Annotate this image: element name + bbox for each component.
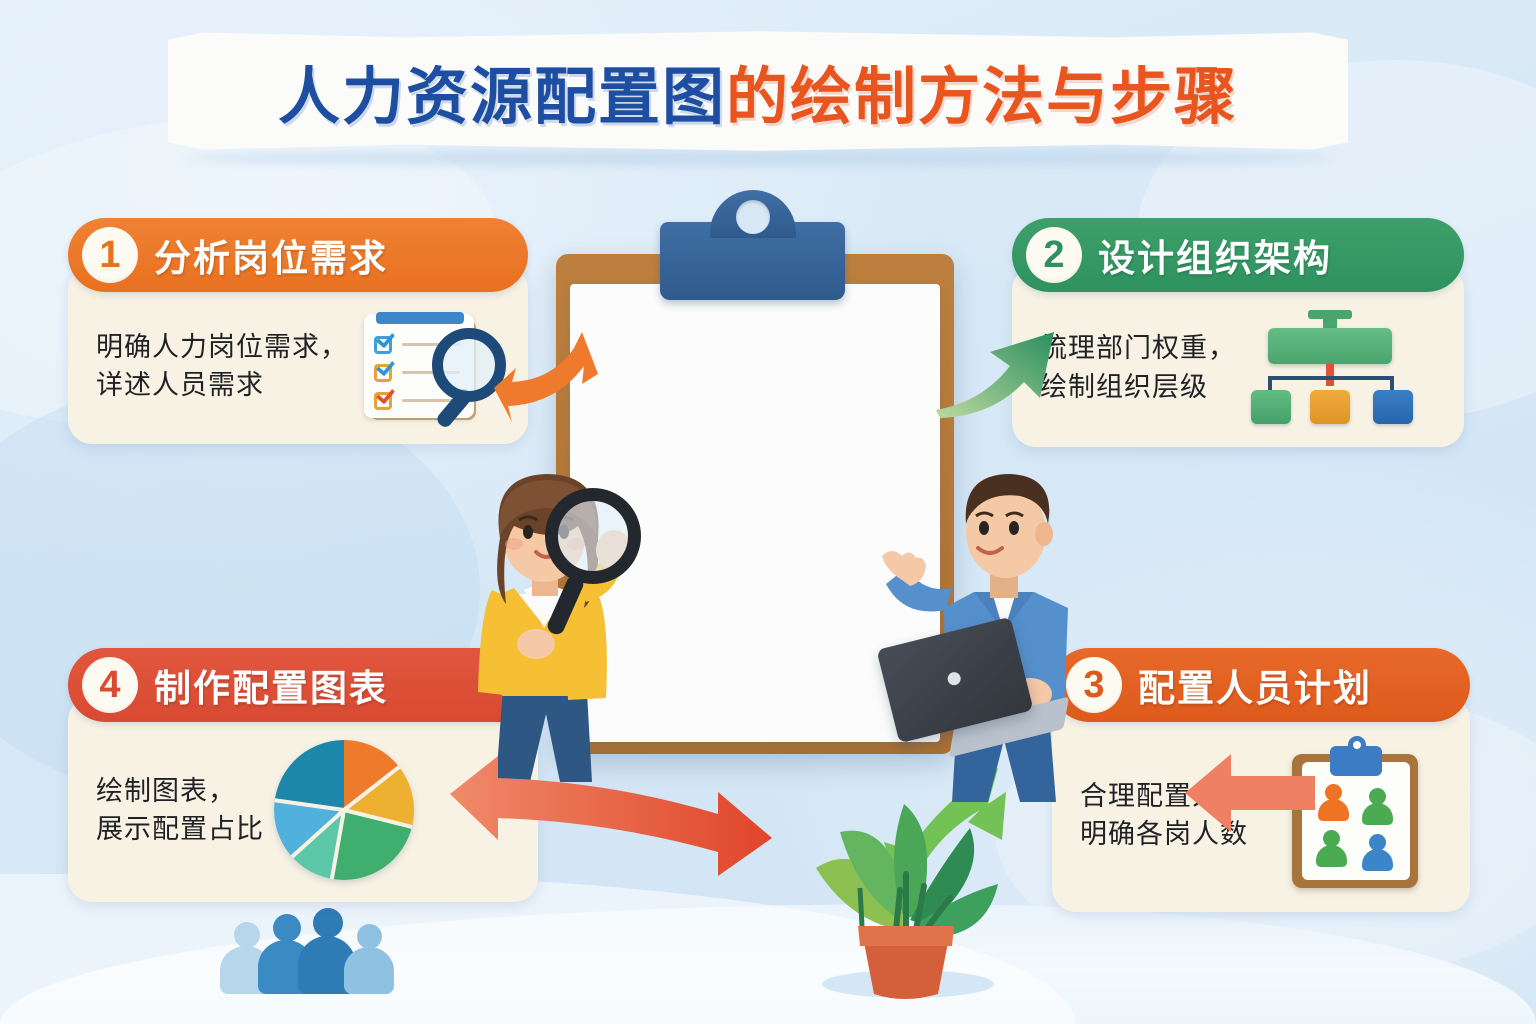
- arrow-step1-double: [492, 318, 612, 428]
- silhouette-4: [344, 924, 394, 994]
- step-card-4-title: 制作配置图表: [154, 658, 388, 712]
- step-card-3-title: 配置人员计划: [1138, 658, 1372, 712]
- arrow-step2-curved: [936, 306, 1066, 418]
- step-card-1[interactable]: 1 分析岗位需求 明确人力岗位需求， 详述人员需求: [68, 218, 528, 444]
- page-title-secondary: 的绘制方法与步骤: [726, 46, 1238, 136]
- step-card-2-line1: 梳理部门权重，: [1040, 329, 1236, 367]
- step-card-2-line2: 绘制组织层级: [1040, 368, 1236, 406]
- step-card-2-text: 梳理部门权重， 绘制组织层级: [1040, 329, 1236, 406]
- org-chart-icon: [1246, 310, 1421, 425]
- arrow-step3-left: [1185, 748, 1315, 838]
- step-card-1-text: 明确人力岗位需求， 详述人员需求: [96, 328, 348, 405]
- checklist-magnifier-icon: [358, 310, 508, 422]
- step-card-4-line1: 绘制图表，: [96, 772, 264, 810]
- step-card-2-title: 设计组织架构: [1098, 228, 1332, 282]
- step-card-2-body: 梳理部门权重， 绘制组织层级: [1012, 266, 1464, 447]
- page-title: 人力资源配置图的绘制方法与步骤: [168, 30, 1348, 152]
- magnifier-lens-icon: [545, 488, 641, 584]
- page-title-primary: 人力资源配置图: [278, 46, 726, 136]
- step-number-badge-4: 4: [82, 657, 138, 713]
- step-card-4-text: 绘制图表， 展示配置占比: [96, 772, 264, 849]
- step-number-badge-1: 1: [82, 227, 138, 283]
- step-card-4-line2: 展示配置占比: [96, 810, 264, 848]
- step-card-2-header: 2 设计组织架构: [1012, 218, 1464, 292]
- step-number-badge-2: 2: [1026, 227, 1082, 283]
- step-card-1-line1: 明确人力岗位需求，: [96, 328, 348, 366]
- arrow-bottom-double: [442, 752, 802, 880]
- woman-with-magnifier: [418, 452, 668, 782]
- potted-plant: [800, 770, 1010, 1000]
- step-card-1-title: 分析岗位需求: [154, 228, 388, 282]
- people-silhouettes: [220, 898, 390, 994]
- title-banner-shadow: [182, 150, 1332, 166]
- step-card-1-line2: 详述人员需求: [96, 366, 348, 404]
- step-card-1-header: 1 分析岗位需求: [68, 218, 528, 292]
- clipboard-clip-icon: [660, 222, 845, 300]
- step-card-2[interactable]: 2 设计组织架构 梳理部门权重， 绘制组织层级: [1012, 218, 1464, 447]
- step-card-1-body: 明确人力岗位需求， 详述人员需求: [68, 266, 528, 444]
- infographic-canvas: 人力资源配置图的绘制方法与步骤: [0, 0, 1536, 1024]
- pie-chart-icon: [274, 740, 414, 880]
